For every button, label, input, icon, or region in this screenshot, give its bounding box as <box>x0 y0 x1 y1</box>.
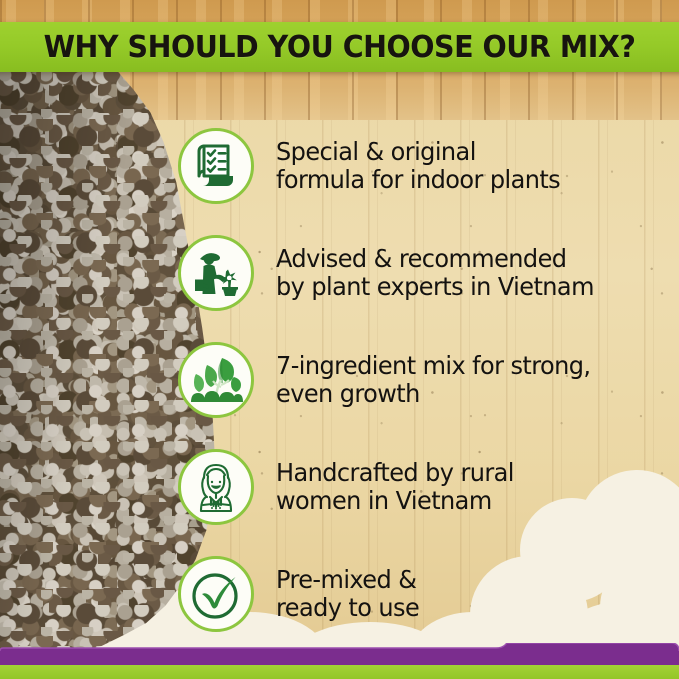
rural-woman-icon <box>190 461 242 513</box>
gardener-watering-icon <box>190 247 242 299</box>
feature-item-seven-ingredient: 7-ingredient mix for strong, even growth <box>178 326 668 433</box>
feature-icon-badge <box>178 235 254 311</box>
feature-icon-badge <box>178 342 254 418</box>
feature-label: Handcrafted by rural women in Vietnam <box>276 459 514 515</box>
feature-item-premixed: Pre-mixed & ready to use <box>178 540 668 647</box>
feature-item-special-formula: Special & original formula for indoor pl… <box>178 112 668 219</box>
feature-icon-badge <box>178 556 254 632</box>
infographic-canvas: WHY SHOULD YOU CHOOSE OUR MIX? <box>0 0 679 679</box>
feature-item-expert-advised: Advised & recommended by plant experts i… <box>178 219 668 326</box>
feature-label: 7-ingredient mix for strong, even growth <box>276 352 590 408</box>
checkmark-circle-icon <box>189 567 243 621</box>
feature-item-handcrafted: Handcrafted by rural women in Vietnam <box>178 433 668 540</box>
page-title: WHY SHOULD YOU CHOOSE OUR MIX? <box>44 30 636 65</box>
feature-icon-badge <box>178 449 254 525</box>
leaves-growth-icon <box>189 355 243 405</box>
feature-label: Pre-mixed & ready to use <box>276 566 419 622</box>
checklist-scroll-icon <box>191 141 241 191</box>
header-banner: WHY SHOULD YOU CHOOSE OUR MIX? <box>0 22 679 72</box>
feature-label: Advised & recommended by plant experts i… <box>276 245 594 301</box>
feature-list: Special & original formula for indoor pl… <box>178 112 668 647</box>
feature-label: Special & original formula for indoor pl… <box>276 138 560 194</box>
feature-icon-badge <box>178 128 254 204</box>
green-footer-strip <box>0 665 679 679</box>
purple-bottom-band <box>0 643 679 665</box>
